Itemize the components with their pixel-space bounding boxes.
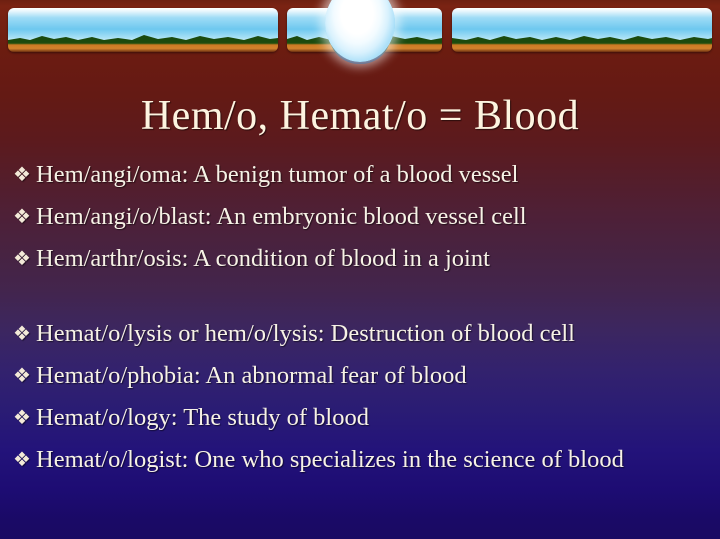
list-item-label: Hem/angi/oma: A benign tumor of a blood …: [36, 160, 714, 190]
bullet-list: ❖ Hem/angi/oma: A benign tumor of a bloo…: [8, 160, 714, 487]
floret-bullet-icon: ❖: [8, 160, 36, 190]
list-item: ❖ Hem/arthr/osis: A condition of blood i…: [8, 244, 714, 286]
floret-bullet-icon: ❖: [8, 403, 36, 433]
list-item: ❖ Hemat/o/phobia: An abnormal fear of bl…: [8, 361, 714, 403]
treeline-icon: [8, 32, 278, 42]
slide-title: Hem/o, Hemat/o = Blood: [0, 92, 720, 140]
list-item: ❖ Hemat/o/logist: One who specializes in…: [8, 445, 714, 487]
floret-bullet-icon: ❖: [8, 361, 36, 391]
list-item-label: Hem/angi/o/blast: An embryonic blood ves…: [36, 202, 714, 232]
floret-bullet-icon: ❖: [8, 244, 36, 274]
list-item-label: Hemat/o/lysis or hem/o/lysis: Destructio…: [36, 319, 714, 349]
floret-bullet-icon: ❖: [8, 445, 36, 475]
landscape-panel-right: [452, 8, 712, 52]
floret-bullet-icon: ❖: [8, 319, 36, 349]
presentation-slide: Hem/o, Hemat/o = Blood ❖ Hem/angi/oma: A…: [0, 0, 720, 539]
list-item: ❖ Hemat/o/lysis or hem/o/lysis: Destruct…: [8, 319, 714, 361]
list-item-label: Hemat/o/logy: The study of blood: [36, 403, 714, 433]
list-item: ❖ Hem/angi/oma: A benign tumor of a bloo…: [8, 160, 714, 202]
list-item: ❖ Hemat/o/logy: The study of blood: [8, 403, 714, 445]
list-item-label: Hemat/o/logist: One who specializes in t…: [36, 445, 714, 475]
list-item-label: Hemat/o/phobia: An abnormal fear of bloo…: [36, 361, 714, 391]
list-item-label: Hem/arthr/osis: A condition of blood in …: [36, 244, 714, 274]
landscape-panel-left: [8, 8, 278, 52]
slide-banner-image: [0, 0, 720, 75]
floret-bullet-icon: ❖: [8, 202, 36, 232]
list-item: ❖ Hem/angi/o/blast: An embryonic blood v…: [8, 202, 714, 244]
treeline-icon: [452, 32, 712, 42]
